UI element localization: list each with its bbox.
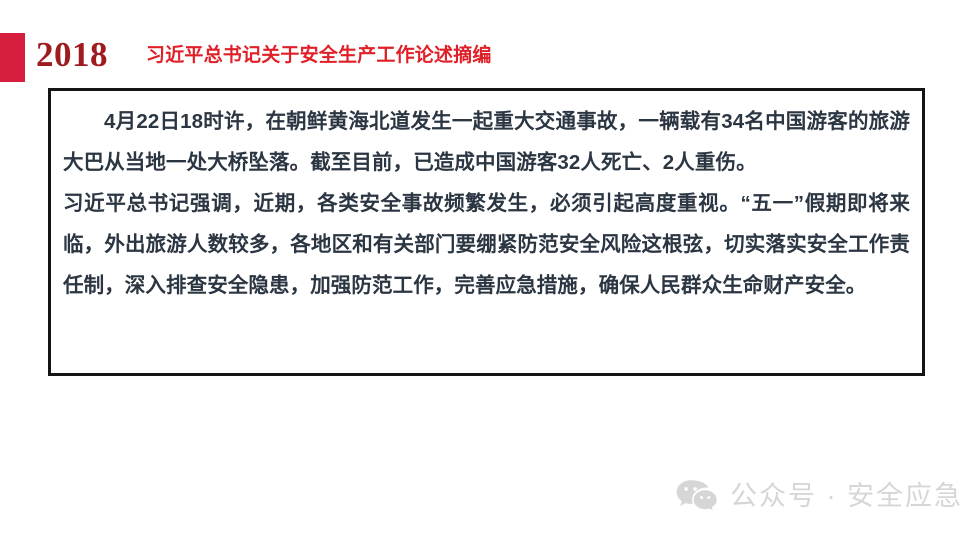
- slide-header: 2018 习近平总书记关于安全生产工作论述摘编: [0, 28, 960, 86]
- wechat-icon: [676, 479, 718, 513]
- watermark: 公众号 · 安全应急: [676, 479, 960, 513]
- content-box: 4月22日18时许，在朝鲜黄海北道发生一起重大交通事故，一辆载有34名中国游客的…: [48, 88, 925, 376]
- watermark-text: 公众号 · 安全应急: [730, 479, 960, 513]
- slide-canvas: 2018 习近平总书记关于安全生产工作论述摘编 4月22日18时许，在朝鲜黄海北…: [0, 0, 960, 540]
- paragraph-incident-report: 4月22日18时许，在朝鲜黄海北道发生一起重大交通事故，一辆载有34名中国游客的…: [63, 101, 910, 183]
- content-body: 4月22日18时许，在朝鲜黄海北道发生一起重大交通事故，一辆载有34名中国游客的…: [51, 91, 922, 306]
- paragraph-directive: 习近平总书记强调，近期，各类安全事故频繁发生，必须引起高度重视。“五一”假期即将…: [63, 183, 910, 306]
- header-year: 2018: [36, 33, 108, 77]
- header-accent-block: [0, 33, 25, 82]
- page-title: 习近平总书记关于安全生产工作论述摘编: [146, 42, 492, 70]
